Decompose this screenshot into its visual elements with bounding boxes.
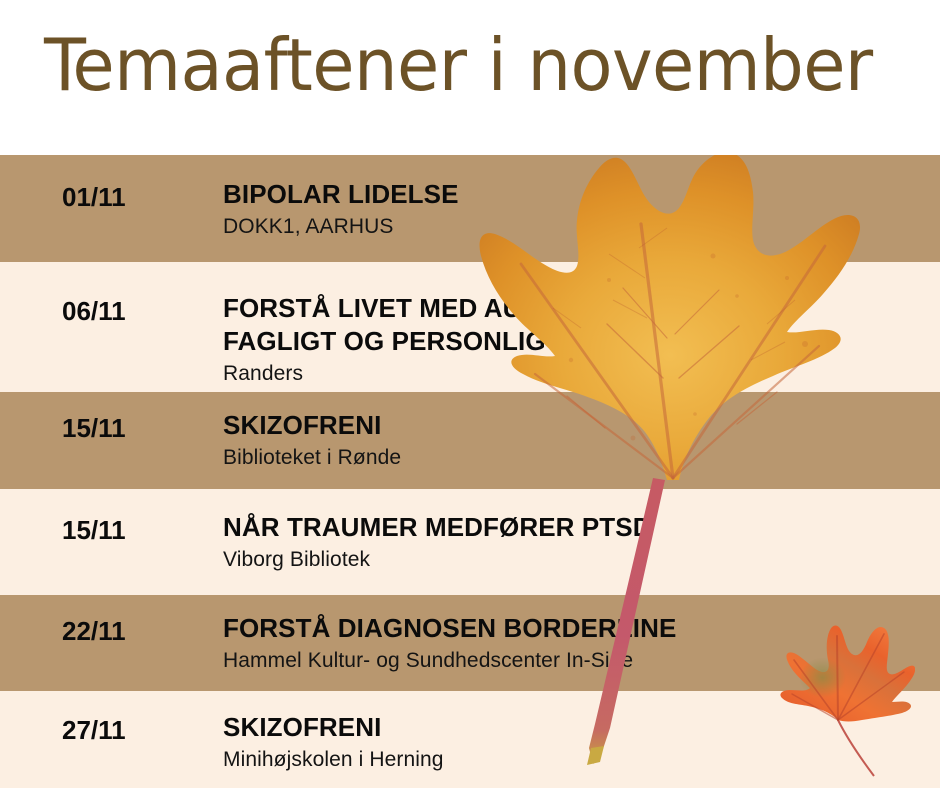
schedule-list: 01/11 BIPOLAR LIDELSE DOKK1, AARHUS 06/1… — [0, 155, 940, 788]
row-date: 15/11 — [62, 413, 126, 444]
row-title-line2: FAGLIGT OG PERSONLIGT PERSPEKTIV — [223, 325, 932, 358]
row-venue: Minihøjskolen i Herning — [223, 746, 932, 774]
row-text-block: SKIZOFRENI Biblioteket i Rønde — [223, 409, 932, 472]
schedule-row-6[interactable]: 27/11 SKIZOFRENI Minihøjskolen i Herning — [0, 691, 940, 788]
row-venue: Randers — [223, 360, 932, 388]
row-text-block: FORSTÅ LIVET MED AUTISME UD FRA ET FAGLI… — [223, 292, 932, 388]
row-title: NÅR TRAUMER MEDFØRER PTSD — [223, 511, 932, 544]
row-title: SKIZOFRENI — [223, 711, 932, 744]
row-date: 27/11 — [62, 715, 126, 746]
row-text-block: SKIZOFRENI Minihøjskolen i Herning — [223, 711, 932, 774]
row-text-block: FORSTÅ DIAGNOSEN BORDERLINE Hammel Kultu… — [223, 612, 932, 675]
row-venue: DOKK1, AARHUS — [223, 213, 932, 241]
row-title: SKIZOFRENI — [223, 409, 932, 442]
row-date: 22/11 — [62, 616, 126, 647]
row-title: FORSTÅ DIAGNOSEN BORDERLINE — [223, 612, 932, 645]
row-venue: Hammel Kultur- og Sundhedscenter In-Side — [223, 647, 932, 675]
row-date: 01/11 — [62, 182, 126, 213]
schedule-row-5[interactable]: 22/11 FORSTÅ DIAGNOSEN BORDERLINE Hammel… — [0, 595, 940, 691]
schedule-row-1[interactable]: 01/11 BIPOLAR LIDELSE DOKK1, AARHUS — [0, 155, 940, 262]
row-title: FORSTÅ LIVET MED AUTISME UD FRA ET — [223, 292, 932, 325]
schedule-row-3[interactable]: 15/11 SKIZOFRENI Biblioteket i Rønde — [0, 392, 940, 489]
row-venue: Biblioteket i Rønde — [223, 444, 932, 472]
page-title: Temaaftener i november — [44, 22, 940, 108]
row-text-block: NÅR TRAUMER MEDFØRER PTSD Viborg Bibliot… — [223, 511, 932, 574]
poster-canvas: 01/11 BIPOLAR LIDELSE DOKK1, AARHUS 06/1… — [0, 0, 940, 788]
row-date: 06/11 — [62, 296, 126, 327]
row-date: 15/11 — [62, 515, 126, 546]
row-text-block: BIPOLAR LIDELSE DOKK1, AARHUS — [223, 178, 932, 241]
poster-header: Temaaftener i november — [0, 0, 940, 155]
row-venue: Viborg Bibliotek — [223, 546, 932, 574]
schedule-row-4[interactable]: 15/11 NÅR TRAUMER MEDFØRER PTSD Viborg B… — [0, 489, 940, 595]
schedule-row-2[interactable]: 06/11 FORSTÅ LIVET MED AUTISME UD FRA ET… — [0, 262, 940, 392]
row-title: BIPOLAR LIDELSE — [223, 178, 932, 211]
